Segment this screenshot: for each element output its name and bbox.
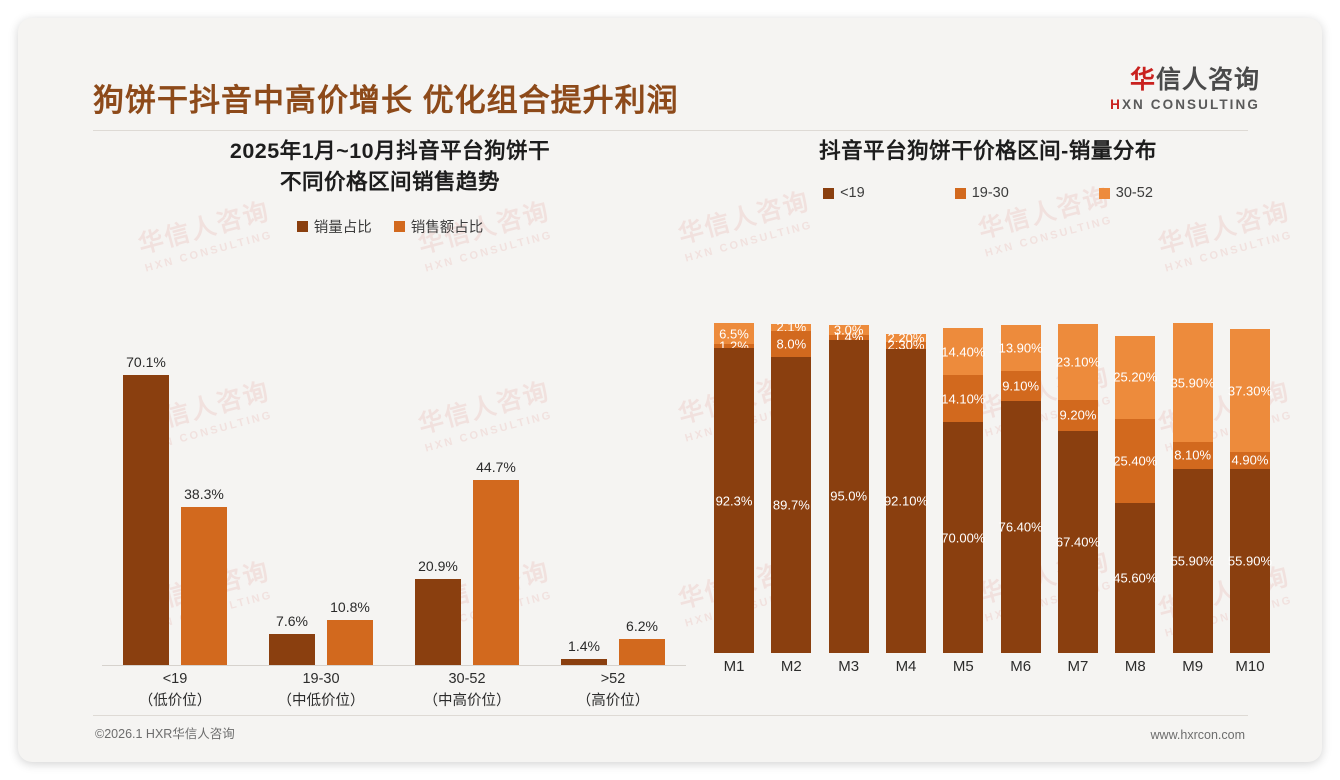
segment-value-label: 9.10% bbox=[1002, 378, 1039, 393]
bar-group: 20.9%44.7% bbox=[394, 310, 540, 665]
x-tick-label: M2 bbox=[771, 658, 811, 675]
legend-label: <19 bbox=[840, 185, 865, 201]
stacked-bar[interactable]: 14.40%14.10%70.00% bbox=[943, 308, 983, 653]
segment-value-label: 92.10% bbox=[884, 494, 928, 509]
stacked-bar[interactable]: 2.1%8.0%89.7% bbox=[771, 308, 811, 653]
company-logo: 华信人咨询 HXN CONSULTING bbox=[1110, 66, 1260, 112]
bar[interactable]: 44.7% bbox=[473, 480, 519, 665]
legend-swatch-icon bbox=[955, 188, 966, 199]
bar-value-label: 6.2% bbox=[626, 618, 658, 634]
bar-fill bbox=[123, 375, 169, 665]
bar-fill bbox=[473, 480, 519, 665]
logo-cn-first-char: 华 bbox=[1130, 66, 1156, 94]
x-tick-label: M3 bbox=[829, 658, 869, 675]
segment-value-label: 76.40% bbox=[999, 519, 1043, 534]
bar[interactable]: 6.2% bbox=[619, 639, 665, 665]
x-tick-label: M4 bbox=[886, 658, 926, 675]
bar[interactable]: 10.8% bbox=[327, 620, 373, 665]
x-tick-label: M8 bbox=[1115, 658, 1155, 675]
bar-fill bbox=[327, 620, 373, 665]
stacked-bar-segment: 37.30% bbox=[1230, 329, 1270, 452]
legend-swatch-icon bbox=[297, 221, 308, 232]
x-tick-label: <19（低价位） bbox=[102, 668, 248, 712]
stacked-bar[interactable]: 2.20%2.30%92.10% bbox=[886, 308, 926, 653]
stacked-bar-segment: 89.7% bbox=[771, 357, 811, 653]
x-tick-label: 30-52（中高价位） bbox=[394, 668, 540, 712]
segment-value-label: 45.60% bbox=[1113, 570, 1157, 585]
legend-label: 销售额占比 bbox=[411, 216, 484, 237]
bar-fill bbox=[619, 639, 665, 665]
left-chart-title: 2025年1月~10月抖音平台狗饼干 不同价格区间销售趋势 bbox=[80, 136, 700, 198]
logo-chinese-name: 华信人咨询 bbox=[1110, 66, 1260, 94]
segment-value-label: 95.0% bbox=[830, 489, 867, 504]
segment-value-label: 55.90% bbox=[1171, 553, 1215, 568]
segment-value-label: 55.90% bbox=[1228, 553, 1272, 568]
segment-value-label: 8.10% bbox=[1174, 448, 1211, 463]
segment-value-label: 92.3% bbox=[716, 493, 753, 508]
website-text: www.hxrcon.com bbox=[1151, 728, 1245, 742]
legend-item[interactable]: 销量占比 bbox=[297, 216, 372, 237]
segment-value-label: 70.00% bbox=[941, 530, 985, 545]
x-tick-label: M10 bbox=[1230, 658, 1270, 675]
legend-item[interactable]: 销售额占比 bbox=[394, 216, 484, 237]
bar[interactable]: 7.6% bbox=[269, 634, 315, 665]
x-tick-label: 19-30（中低价位） bbox=[248, 668, 394, 712]
stacked-bar-segment: 9.10% bbox=[1001, 371, 1041, 401]
legend-label: 30-52 bbox=[1116, 185, 1153, 201]
stacked-bar[interactable]: 3.0%1.4%95.0% bbox=[829, 308, 869, 653]
copyright-text: ©2026.1 HXR华信人咨询 bbox=[95, 723, 235, 742]
stacked-bar-segment: 35.90% bbox=[1173, 323, 1213, 441]
left-chart-x-tick-labels: <19（低价位）19-30（中低价位）30-52（中高价位）>52（高价位） bbox=[102, 668, 686, 712]
left-chart-title-line2: 不同价格区间销售趋势 bbox=[80, 167, 700, 198]
left-chart-legend: 销量占比销售额占比 bbox=[80, 216, 700, 237]
stacked-bar-segment: 4.90% bbox=[1230, 452, 1270, 468]
stacked-bar-segment: 8.10% bbox=[1173, 442, 1213, 469]
stacked-bar-segment: 9.20% bbox=[1058, 400, 1098, 430]
footer-divider bbox=[93, 715, 1248, 716]
legend-label: 19-30 bbox=[972, 185, 1009, 201]
stacked-bar-segment: 92.3% bbox=[714, 348, 754, 653]
logo-en-first-char: H bbox=[1110, 97, 1122, 112]
stacked-bar-segment: 2.30% bbox=[886, 342, 926, 350]
bar-value-label: 38.3% bbox=[184, 486, 224, 502]
stacked-bar-segment: 95.0% bbox=[829, 340, 869, 654]
bar-fill bbox=[181, 507, 227, 665]
bar-value-label: 7.6% bbox=[276, 613, 308, 629]
x-tick-label: M9 bbox=[1173, 658, 1213, 675]
x-tick-label: M5 bbox=[943, 658, 983, 675]
segment-value-label: 8.0% bbox=[777, 336, 807, 351]
segment-value-label: 4.90% bbox=[1232, 453, 1269, 468]
left-chart-plot-area: 70.1%38.3%7.6%10.8%20.9%44.7%1.4%6.2% <1… bbox=[88, 311, 700, 666]
segment-value-label: 37.30% bbox=[1228, 383, 1272, 398]
stacked-bar-segment: 76.40% bbox=[1001, 401, 1041, 653]
segment-value-label: 25.20% bbox=[1113, 370, 1157, 385]
bar-value-label: 44.7% bbox=[476, 459, 516, 475]
legend-item[interactable]: 30-52 bbox=[1099, 185, 1153, 201]
segment-value-label: 25.40% bbox=[1113, 453, 1157, 468]
stacked-bar[interactable]: 23.10%9.20%67.40% bbox=[1058, 308, 1098, 653]
x-tick-label: M7 bbox=[1058, 658, 1098, 675]
bar-value-label: 1.4% bbox=[568, 638, 600, 654]
stacked-bar-segment: 2.1% bbox=[771, 324, 811, 331]
logo-cn-rest: 信人咨询 bbox=[1156, 66, 1260, 94]
legend-swatch-icon bbox=[1099, 188, 1110, 199]
stacked-bar-segment: 25.20% bbox=[1115, 336, 1155, 419]
stacked-bar-segment: 55.90% bbox=[1173, 469, 1213, 653]
stacked-bar-segment: 67.40% bbox=[1058, 431, 1098, 653]
x-tick-label: M1 bbox=[714, 658, 754, 675]
stacked-bar[interactable]: 6.5%1.2%92.3% bbox=[714, 308, 754, 653]
x-tick-label: >52（高价位） bbox=[540, 668, 686, 712]
segment-value-label: 13.90% bbox=[999, 340, 1043, 355]
right-chart-title: 抖音平台狗饼干价格区间-销量分布 bbox=[708, 136, 1268, 167]
bar[interactable]: 20.9% bbox=[415, 579, 461, 665]
x-tick-label: M6 bbox=[1001, 658, 1041, 675]
legend-swatch-icon bbox=[394, 221, 405, 232]
bar-group: 1.4%6.2% bbox=[540, 310, 686, 665]
stacked-bar-segment: 23.10% bbox=[1058, 324, 1098, 400]
stacked-bar-segment: 45.60% bbox=[1115, 503, 1155, 653]
stacked-bar-segment: 13.90% bbox=[1001, 325, 1041, 371]
segment-value-label: 14.40% bbox=[941, 344, 985, 359]
slide-header: 狗饼干抖音中高价增长 优化组合提升利润 华信人咨询 HXN CONSULTING bbox=[18, 18, 1322, 122]
stacked-bar[interactable]: 35.90%8.10%55.90% bbox=[1173, 308, 1213, 653]
stacked-bar-segment: 92.10% bbox=[886, 349, 926, 653]
stacked-bar-segment: 8.0% bbox=[771, 331, 811, 357]
segment-value-label: 89.7% bbox=[773, 498, 810, 513]
left-chart-x-axis-line bbox=[102, 665, 686, 666]
segment-value-label: 23.10% bbox=[1056, 355, 1100, 370]
legend-item[interactable]: 19-30 bbox=[955, 185, 1009, 201]
page-title: 狗饼干抖音中高价增长 优化组合提升利润 bbox=[93, 75, 679, 120]
logo-en-rest: XN CONSULTING bbox=[1122, 97, 1260, 112]
stacked-bar-segment: 14.40% bbox=[943, 328, 983, 376]
stacked-bar-segment: 25.40% bbox=[1115, 419, 1155, 503]
right-chart-x-tick-labels: M1M2M3M4M5M6M7M8M9M10 bbox=[714, 658, 1270, 675]
right-chart-legend: <1919-3030-52 bbox=[708, 185, 1268, 201]
stacked-bar-segment: 70.00% bbox=[943, 422, 983, 653]
segment-value-label: 14.10% bbox=[941, 391, 985, 406]
bar-value-label: 10.8% bbox=[330, 599, 370, 615]
legend-item[interactable]: <19 bbox=[823, 185, 865, 201]
legend-label: 销量占比 bbox=[314, 216, 372, 237]
header-divider bbox=[93, 130, 1248, 131]
logo-english-name: HXN CONSULTING bbox=[1110, 97, 1260, 112]
bar-value-label: 20.9% bbox=[418, 558, 458, 574]
segment-value-label: 9.20% bbox=[1060, 408, 1097, 423]
left-chart-title-line1: 2025年1月~10月抖音平台狗饼干 bbox=[80, 136, 700, 167]
legend-swatch-icon bbox=[823, 188, 834, 199]
slide-canvas: 狗饼干抖音中高价增长 优化组合提升利润 华信人咨询 HXN CONSULTING… bbox=[18, 18, 1322, 762]
stacked-bar[interactable]: 25.20%25.40%45.60% bbox=[1115, 308, 1155, 653]
bar-fill bbox=[269, 634, 315, 665]
right-chart-plot-area: 6.5%1.2%92.3%2.1%8.0%89.7%3.0%1.4%95.0%2… bbox=[714, 308, 1270, 653]
segment-value-label: 35.90% bbox=[1171, 375, 1215, 390]
stacked-bar[interactable]: 37.30%4.90%55.90% bbox=[1230, 308, 1270, 653]
bar[interactable]: 70.1% bbox=[123, 375, 169, 665]
bar-group: 7.6%10.8% bbox=[248, 310, 394, 665]
bar-fill bbox=[415, 579, 461, 665]
bar-group: 70.1%38.3% bbox=[102, 310, 248, 665]
stacked-bar-segment: 55.90% bbox=[1230, 469, 1270, 653]
stacked-bar[interactable]: 13.90%9.10%76.40% bbox=[1001, 308, 1041, 653]
bar[interactable]: 38.3% bbox=[181, 507, 227, 665]
stacked-bar-segment: 14.10% bbox=[943, 375, 983, 422]
left-chart-panel: 2025年1月~10月抖音平台狗饼干 不同价格区间销售趋势 销量占比销售额占比 … bbox=[80, 136, 700, 706]
right-chart-panel: 抖音平台狗饼干价格区间-销量分布 <1919-3030-52 6.5%1.2%9… bbox=[708, 136, 1268, 706]
segment-value-label: 67.40% bbox=[1056, 534, 1100, 549]
bar-value-label: 70.1% bbox=[126, 354, 166, 370]
